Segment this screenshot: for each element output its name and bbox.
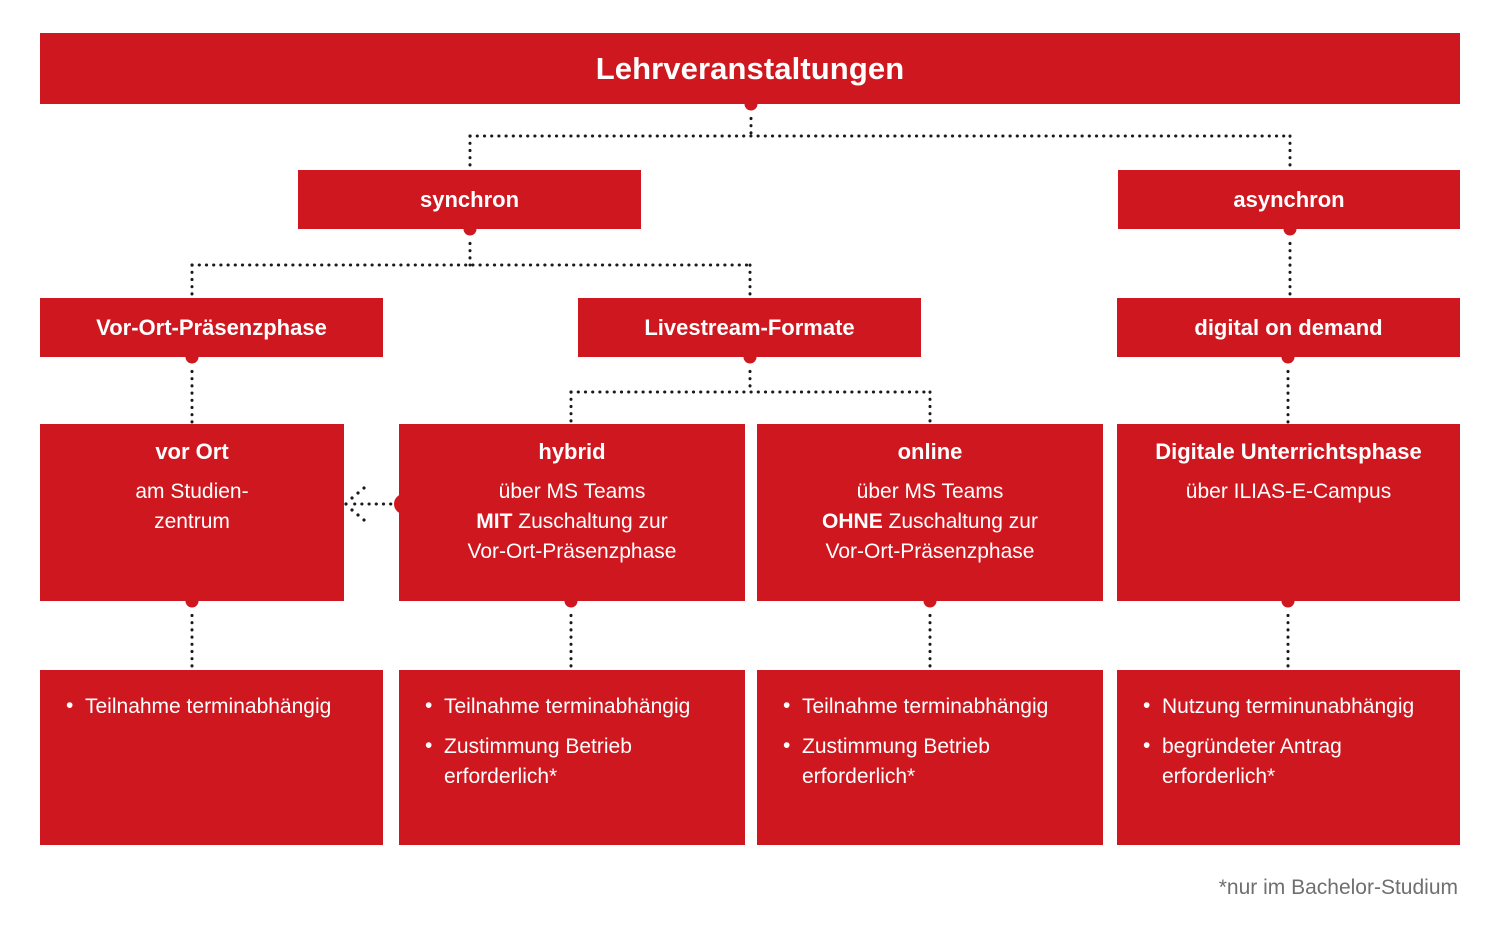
node-vor-ort-line-1: am Studien- [135, 477, 248, 507]
node-hybrid-line-2-emphasis: MIT [476, 510, 512, 533]
node-hybrid-heading: hybrid [538, 441, 605, 463]
node-online-line-2-emphasis: OHNE [822, 510, 883, 533]
node-digitale-unterrichtsphase-line-1: über ILIAS-E-Campus [1186, 477, 1391, 507]
node-livestream-formate[interactable]: Livestream-Formate [578, 298, 921, 357]
node-lehrveranstaltungen-label: Lehrveranstaltungen [596, 53, 905, 84]
notes-digital[interactable]: Nutzung terminunabhängig begründeter Ant… [1117, 670, 1460, 845]
list-item: Teilnahme terminabhängig [66, 692, 369, 721]
node-asynchron-label: asynchron [1233, 189, 1344, 211]
diagram-canvas: Lehrveranstaltungen synchron asynchron V… [0, 0, 1500, 947]
list-item: Zustimmung Betrieb erforderlich* [783, 732, 1089, 791]
node-digital-on-demand-label: digital on demand [1194, 317, 1382, 339]
node-vor-ort-heading: vor Ort [155, 441, 228, 463]
node-hybrid-line-2-rest: Zuschaltung zur [512, 510, 667, 533]
hybrid-to-vorort-arrowhead [344, 486, 365, 521]
node-synchron[interactable]: synchron [298, 170, 641, 229]
notes-vor-ort-list: Teilnahme terminabhängig [66, 692, 369, 721]
node-online-heading: online [898, 441, 963, 463]
node-online-line-2-rest: Zuschaltung zur [883, 510, 1038, 533]
notes-online[interactable]: Teilnahme terminabhängig Zustimmung Betr… [757, 670, 1103, 845]
node-hybrid-line-2: MIT Zuschaltung zur [476, 507, 667, 537]
notes-hybrid-list: Teilnahme terminabhängig Zustimmung Betr… [425, 692, 731, 791]
notes-digital-list: Nutzung terminunabhängig begründeter Ant… [1143, 692, 1446, 791]
node-online-line-3: Vor-Ort-Präsenzphase [826, 537, 1035, 567]
node-vor-ort-line-2: zentrum [154, 507, 230, 537]
notes-hybrid[interactable]: Teilnahme terminabhängig Zustimmung Betr… [399, 670, 745, 845]
node-hybrid[interactable]: hybrid über MS Teams MIT Zuschaltung zur… [399, 424, 745, 601]
node-hybrid-line-1: über MS Teams [499, 477, 646, 507]
list-item: Teilnahme terminabhängig [783, 692, 1089, 721]
node-online-line-1: über MS Teams [857, 477, 1004, 507]
node-vor-ort-praesenzphase-label: Vor-Ort-Präsenzphase [96, 317, 327, 339]
notes-online-list: Teilnahme terminabhängig Zustimmung Betr… [783, 692, 1089, 791]
notes-vor-ort[interactable]: Teilnahme terminabhängig [40, 670, 383, 845]
node-online[interactable]: online über MS Teams OHNE Zuschaltung zu… [757, 424, 1103, 601]
node-digitale-unterrichtsphase-heading: Digitale Unterrichtsphase [1155, 441, 1422, 463]
node-lehrveranstaltungen[interactable]: Lehrveranstaltungen [40, 33, 1460, 104]
node-online-line-2: OHNE Zuschaltung zur [822, 507, 1038, 537]
list-item: Zustimmung Betrieb erforderlich* [425, 732, 731, 791]
node-synchron-label: synchron [420, 189, 519, 211]
node-hybrid-line-3: Vor-Ort-Präsenzphase [468, 537, 677, 567]
node-digital-on-demand[interactable]: digital on demand [1117, 298, 1460, 357]
footnote: *nur im Bachelor-Studium [1219, 876, 1458, 900]
node-digitale-unterrichtsphase[interactable]: Digitale Unterrichtsphase über ILIAS-E-C… [1117, 424, 1460, 601]
node-vor-ort-praesenzphase[interactable]: Vor-Ort-Präsenzphase [40, 298, 383, 357]
node-livestream-formate-label: Livestream-Formate [644, 317, 854, 339]
node-asynchron[interactable]: asynchron [1118, 170, 1460, 229]
list-item: Teilnahme terminabhängig [425, 692, 731, 721]
list-item: begründeter Antrag erforderlich* [1143, 732, 1446, 791]
node-vor-ort[interactable]: vor Ort am Studien- zentrum [40, 424, 344, 601]
list-item: Nutzung terminunabhängig [1143, 692, 1446, 721]
